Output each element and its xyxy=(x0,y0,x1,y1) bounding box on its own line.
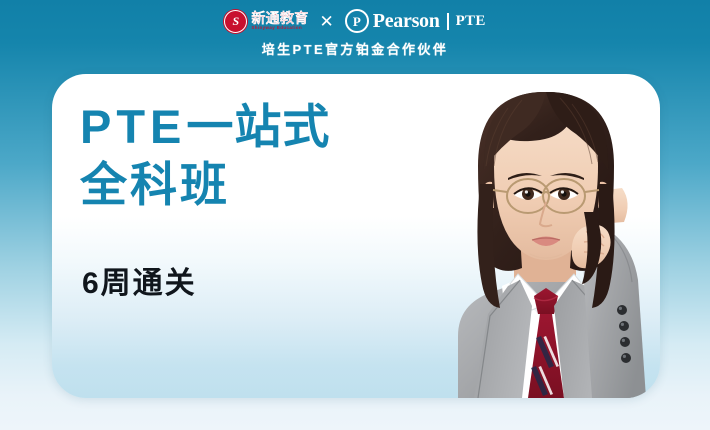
pearson-logo: P Pearson PTE xyxy=(345,9,486,33)
pearson-mark-letter: P xyxy=(353,15,361,28)
shinyway-mark-letter: S xyxy=(233,15,240,27)
shinyway-logo: S 新通教育 Shinyway Education xyxy=(224,10,308,33)
pearson-product-label: PTE xyxy=(456,14,486,29)
headline-line-1: PTE一站式 xyxy=(80,98,330,156)
pearson-divider xyxy=(447,13,449,30)
shinyway-name-cn: 新通教育 xyxy=(251,11,308,25)
content-card: PTE一站式 全科班 6周通关 xyxy=(52,74,660,398)
promo-banner: S 新通教育 Shinyway Education ✕ P Pearson PT… xyxy=(0,0,710,430)
shinyway-text: 新通教育 Shinyway Education xyxy=(251,11,308,31)
header-logos: S 新通教育 Shinyway Education ✕ P Pearson PT… xyxy=(0,6,710,68)
headline-line-2: 全科班 xyxy=(80,156,330,214)
pearson-mark-icon: P xyxy=(345,9,369,33)
card-subtitle: 6周通关 xyxy=(82,266,197,302)
logo-row: S 新通教育 Shinyway Education ✕ P Pearson PT… xyxy=(224,6,485,36)
partnership-subtitle: 培生PTE官方铂金合作伙伴 xyxy=(262,42,448,58)
headline-cn-1: 一站式 xyxy=(186,100,330,153)
shinyway-name-en: Shinyway Education xyxy=(251,25,308,31)
headline-en: PTE xyxy=(80,100,186,153)
shinyway-mark-icon: S xyxy=(224,10,247,33)
model-photo xyxy=(422,74,660,398)
headline-block: PTE一站式 全科班 xyxy=(80,98,330,214)
model-illustration xyxy=(422,74,660,398)
cross-separator-icon: ✕ xyxy=(318,13,336,30)
pearson-wordmark: Pearson xyxy=(373,11,440,31)
